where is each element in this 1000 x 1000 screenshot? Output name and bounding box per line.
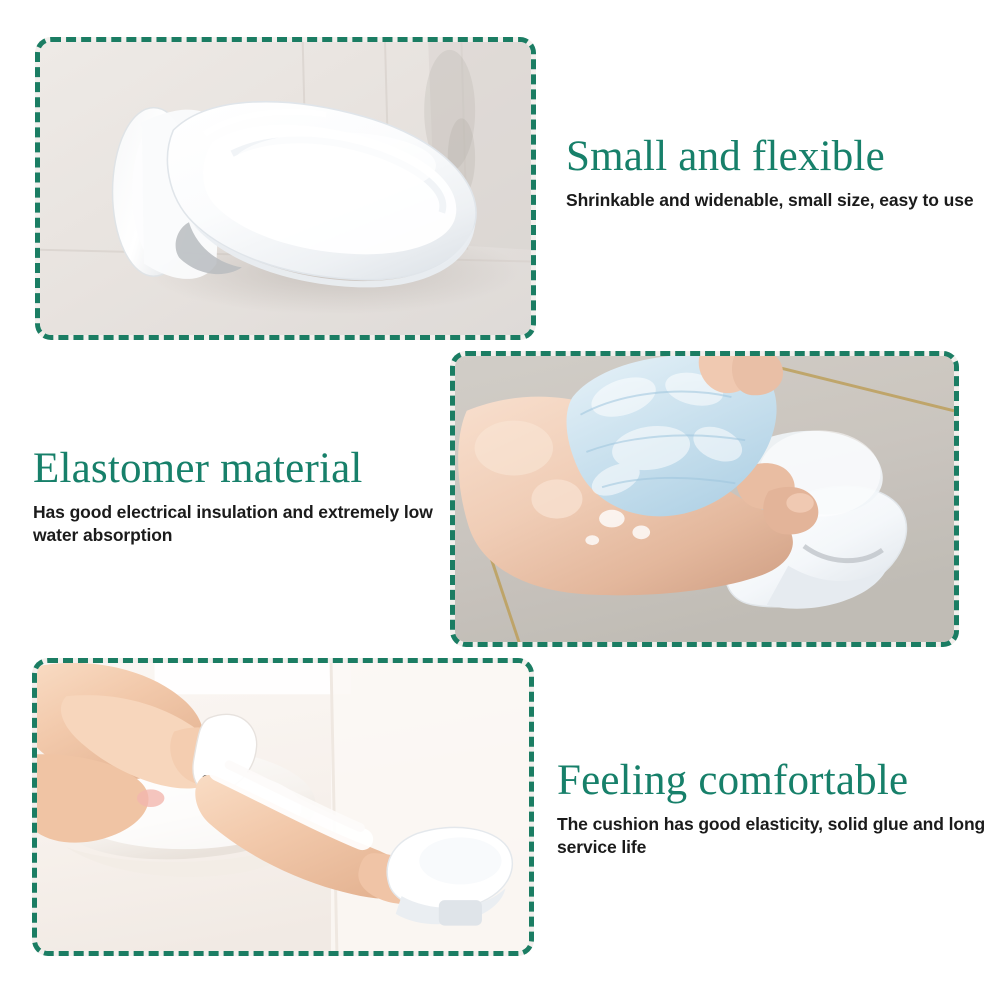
feature-body: Has good electrical insulation and extre… <box>33 492 463 547</box>
woman-shaving-leg-using-foot-rest-illustration <box>37 663 529 951</box>
feature-heading: Feeling comfortable <box>557 758 997 804</box>
wall-panel <box>155 663 351 694</box>
foot-on-rest-with-blue-loofah-illustration <box>455 356 954 642</box>
feature-heading: Small and flexible <box>566 134 986 180</box>
feature-photo-panel-elastomer-material <box>450 351 959 647</box>
foot-rest-bracket <box>439 900 482 925</box>
feature-heading: Elastomer material <box>33 446 463 492</box>
toe <box>763 487 818 535</box>
infographic-canvas: Small and flexible Shrinkable and widena… <box>0 0 1000 1000</box>
feature-photo-panel-feeling-comfortable <box>32 658 534 956</box>
feature-photo-panel-small-and-flexible <box>35 37 536 340</box>
feature-body: The cushion has good elasticity, solid g… <box>557 804 997 859</box>
feature-text-small-and-flexible: Small and flexible Shrinkable and widena… <box>566 134 986 212</box>
ankle-highlight <box>531 479 582 518</box>
foot-rest-mounted-on-tile-wall-illustration <box>40 42 531 335</box>
feature-body: Shrinkable and widenable, small size, ea… <box>566 180 986 212</box>
feature-text-elastomer-material: Elastomer material Has good electrical i… <box>33 446 463 547</box>
fingernail <box>137 789 164 807</box>
feature-text-feeling-comfortable: Feeling comfortable The cushion has good… <box>557 758 997 859</box>
